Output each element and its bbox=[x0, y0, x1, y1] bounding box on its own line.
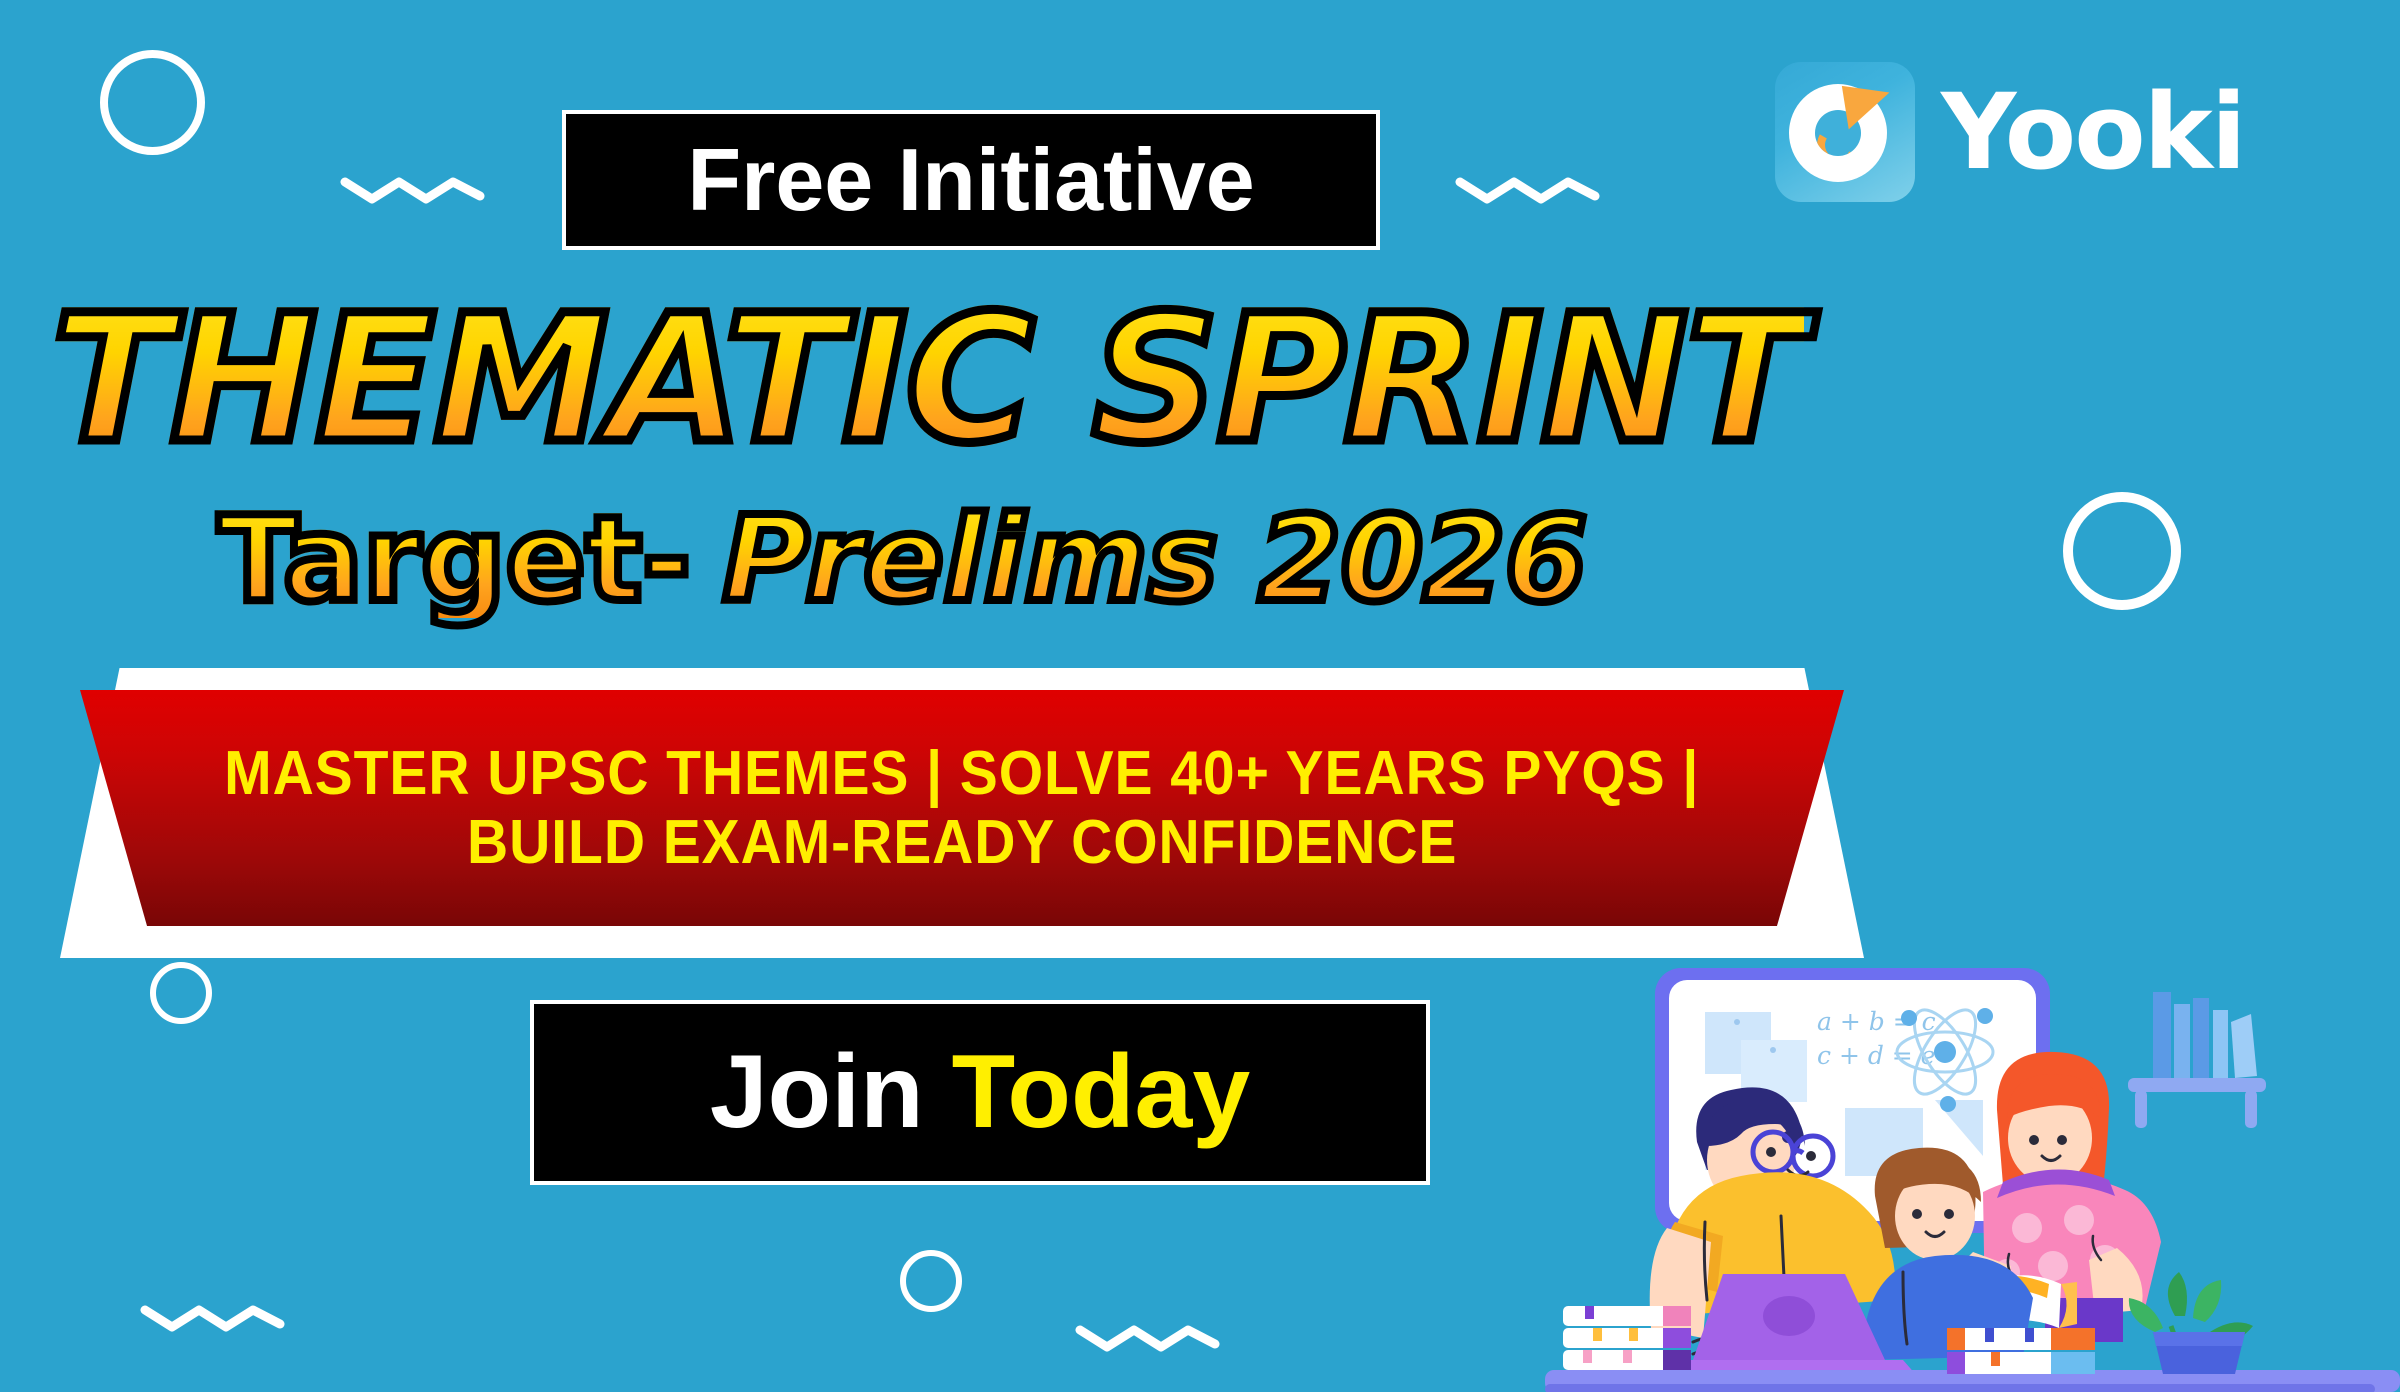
free-initiative-label: Free Initiative bbox=[687, 129, 1254, 231]
ring-left-lower bbox=[150, 962, 212, 1024]
subtitle-highlight: Prelims 2026 bbox=[723, 500, 1588, 618]
zigzag-bottom-left bbox=[140, 1300, 300, 1334]
ribbon-line-1: MASTER UPSC THEMES | SOLVE 40+ YEARS PYQ… bbox=[224, 739, 1699, 808]
zigzag-top-right bbox=[1455, 172, 1615, 206]
ring-top-left bbox=[100, 50, 205, 155]
zigzag-top-left bbox=[340, 172, 500, 206]
brand-logo[interactable]: Yooki bbox=[1775, 62, 2244, 202]
free-initiative-badge: Free Initiative bbox=[562, 110, 1380, 250]
ribbon-body: MASTER UPSC THEMES | SOLVE 40+ YEARS PYQ… bbox=[80, 690, 1844, 926]
cta-label-primary: Join bbox=[710, 1033, 924, 1152]
join-today-button[interactable]: Join Today bbox=[530, 1000, 1430, 1185]
yooki-donut-play-icon bbox=[1775, 62, 1915, 202]
subtitle-prefix: Target- bbox=[218, 500, 691, 618]
subtitle: Target- Prelims 2026 bbox=[218, 500, 1587, 618]
page-title: THEMATIC SPRINT bbox=[52, 292, 1804, 468]
promo-banner: Yooki Free Initiative THEMATIC SPRINT Ta… bbox=[0, 0, 2400, 1392]
ribbon-line-2: BUILD EXAM-READY CONFIDENCE bbox=[467, 808, 1457, 877]
ring-bottom-center bbox=[900, 1250, 962, 1312]
cta-label-highlight: Today bbox=[952, 1033, 1251, 1152]
zigzag-bottom-center bbox=[1075, 1320, 1235, 1354]
logo-play-triangle-icon bbox=[1842, 79, 1894, 130]
students-studying-illustration: a + b = c c + d = e bbox=[1545, 960, 2400, 1392]
brand-wordmark: Yooki bbox=[1941, 80, 2244, 184]
ring-right-mid bbox=[2063, 492, 2181, 610]
